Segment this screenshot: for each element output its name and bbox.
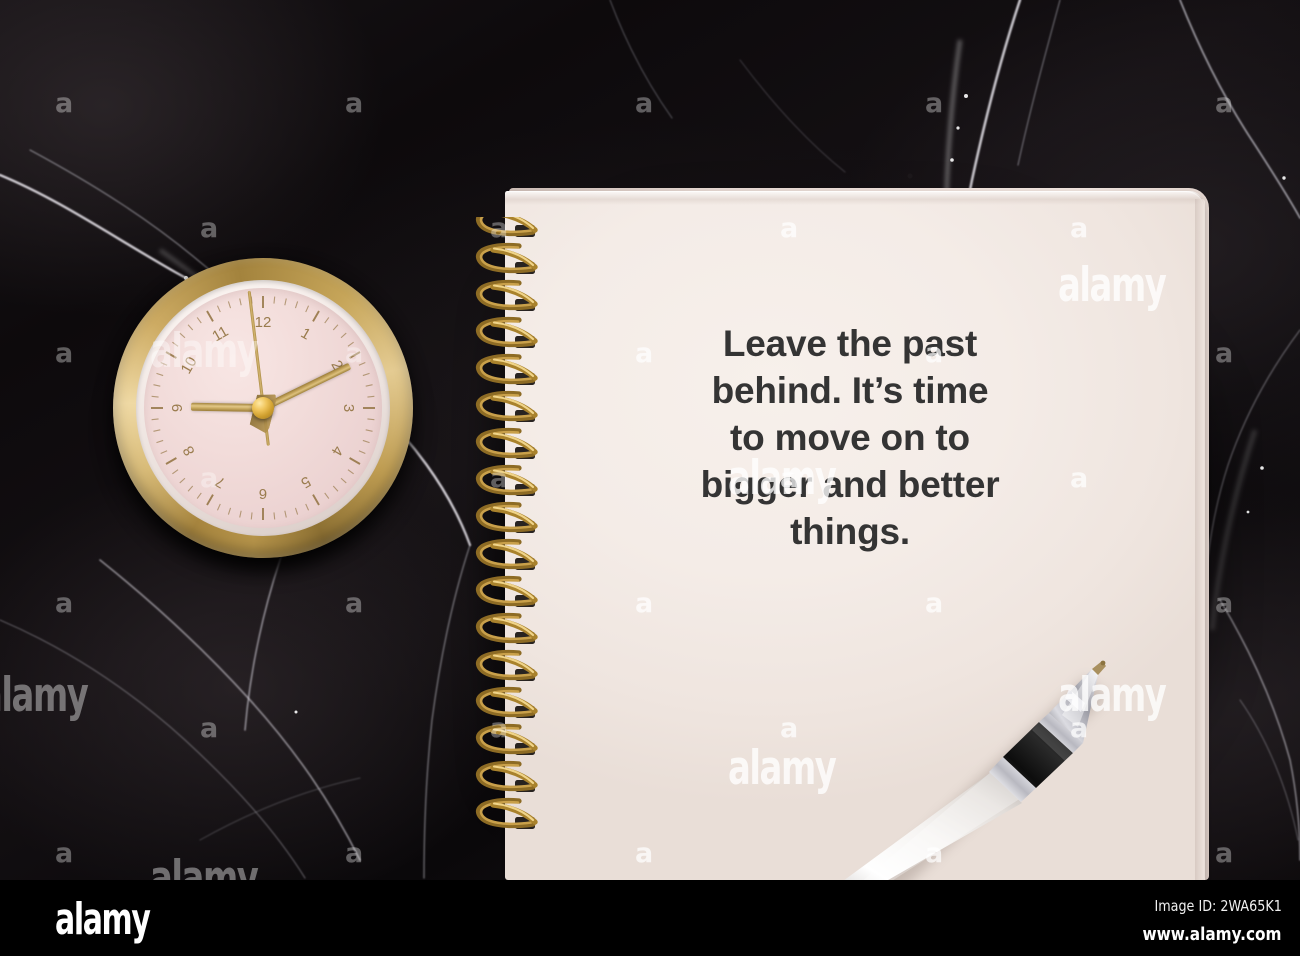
clock-numeral-5: 5 xyxy=(298,472,314,491)
clock-numeral-12: 12 xyxy=(255,314,272,331)
alamy-footer-bar: alamy Image ID: 2WA65K1 www.alamy.com xyxy=(0,880,1300,956)
clock-numeral-1: 1 xyxy=(298,325,314,344)
clock-dial: 123456789101112 xyxy=(144,288,382,528)
clock-numeral-3: 3 xyxy=(340,404,357,412)
quote-line-4: bigger and better xyxy=(655,462,1045,509)
alamy-url: www.alamy.com xyxy=(1143,924,1282,945)
quote-line-1: Leave the past xyxy=(655,321,1045,368)
clock-numeral-4: 4 xyxy=(327,443,346,459)
clock-numeral-7: 7 xyxy=(212,472,228,491)
notebook-right-edge xyxy=(1195,199,1205,880)
clock-numeral-8: 8 xyxy=(180,443,199,459)
quote-line-5: things. xyxy=(655,509,1045,556)
rollerball-pen xyxy=(840,645,1130,880)
image-id-label: Image ID: 2WA65K1 xyxy=(1155,897,1282,915)
alamy-logo: alamy xyxy=(55,898,150,942)
photograph: 123456789101112 Leave the past behind. I… xyxy=(0,0,1300,880)
clock-center-cap xyxy=(252,397,274,419)
quote-line-3: to move on to xyxy=(655,415,1045,462)
notebook-top-edge xyxy=(505,191,1204,205)
clock-numeral-11: 11 xyxy=(209,323,231,346)
quote-text-block: Leave the past behind. It’s time to move… xyxy=(655,321,1045,556)
clock-numeral-6: 6 xyxy=(259,485,267,502)
alarm-clock: 123456789101112 xyxy=(113,258,413,558)
quote-line-2: behind. It’s time xyxy=(655,368,1045,415)
spiral-binding xyxy=(453,217,563,857)
clock-numeral-9: 9 xyxy=(169,404,186,412)
clock-numeral-10: 10 xyxy=(178,354,201,377)
stock-photo-page: 123456789101112 Leave the past behind. I… xyxy=(0,0,1300,956)
